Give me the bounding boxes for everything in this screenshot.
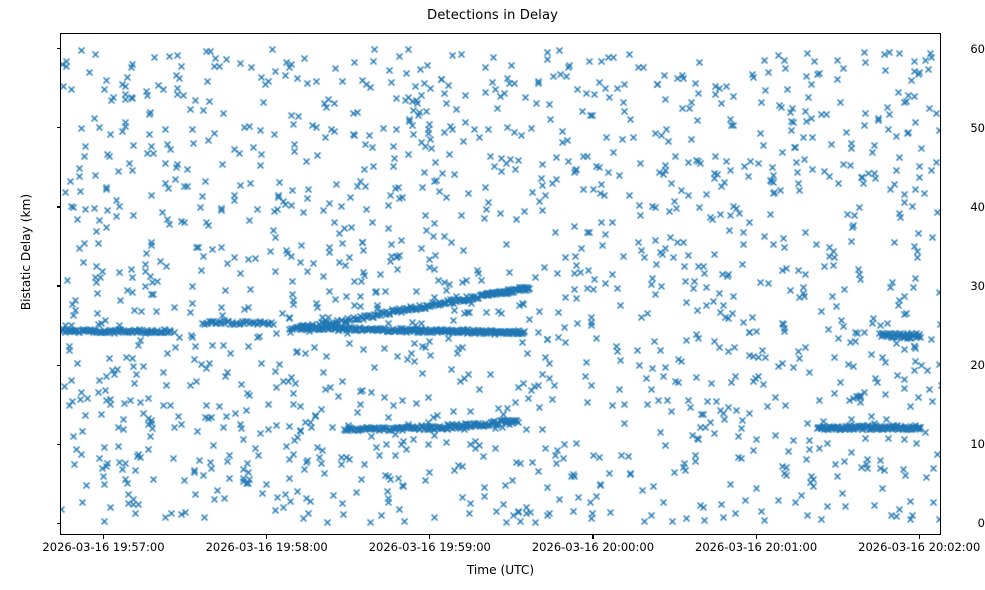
y-tick-mark xyxy=(57,127,61,128)
y-tick-label: 40 xyxy=(937,200,985,214)
y-tick-mark xyxy=(57,206,61,207)
plot-axes-area xyxy=(60,33,941,535)
y-tick-label: 10 xyxy=(937,437,985,451)
x-tick-label: 2026-03-16 19:58:00 xyxy=(206,540,328,554)
y-tick-mark xyxy=(57,285,61,286)
x-tick-label: 2026-03-16 19:59:00 xyxy=(369,540,491,554)
x-tick-mark xyxy=(756,535,757,539)
x-axis-label: Time (UTC) xyxy=(60,563,941,577)
y-tick-mark xyxy=(57,365,61,366)
x-tick-mark xyxy=(429,535,430,539)
y-tick-label: 20 xyxy=(937,358,985,372)
x-tick-mark xyxy=(919,535,920,539)
y-tick-label: 0 xyxy=(937,516,985,530)
scatter-points-canvas xyxy=(61,34,941,535)
y-tick-label: 50 xyxy=(937,121,985,135)
y-tick-label: 60 xyxy=(937,42,985,56)
x-tick-mark xyxy=(592,535,593,539)
y-axis-label: Bistatic Delay (km) xyxy=(19,102,33,402)
y-tick-mark xyxy=(57,523,61,524)
y-tick-mark xyxy=(57,444,61,445)
matplotlib-figure: Detections in Delay 0102030405060 2026-0… xyxy=(0,0,985,590)
x-tick-mark xyxy=(266,535,267,539)
y-tick-mark xyxy=(57,48,61,49)
y-tick-label: 30 xyxy=(937,279,985,293)
x-tick-label: 2026-03-16 19:57:00 xyxy=(42,540,164,554)
x-tick-mark xyxy=(103,535,104,539)
x-tick-label: 2026-03-16 20:01:00 xyxy=(695,540,817,554)
chart-title: Detections in Delay xyxy=(0,8,985,23)
x-tick-label: 2026-03-16 20:02:00 xyxy=(858,540,980,554)
x-tick-label: 2026-03-16 20:00:00 xyxy=(532,540,654,554)
